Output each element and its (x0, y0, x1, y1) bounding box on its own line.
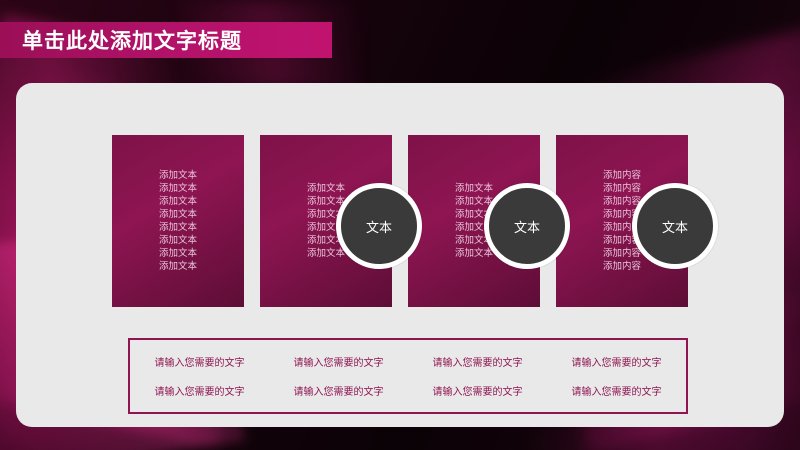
strip-line: 添加文本 (159, 247, 197, 260)
strip-line: 添加文本 (159, 208, 197, 221)
strip-line: 添加文本 (159, 169, 197, 182)
strip-line: 添加内容 (603, 169, 641, 182)
slide-canvas: 单击此处添加文字标题 添加文本 添加文本 添加文本 添加文本 添加文本 添加文本… (0, 0, 800, 450)
strip-line: 添加文本 (307, 195, 345, 208)
strip-line: 添加文本 (159, 182, 197, 195)
circle-node-label: 文本 (662, 217, 688, 236)
bottom-caption-line: 请输入您需要的文字 (572, 354, 662, 369)
circle-node-2[interactable]: 文本 (484, 183, 570, 269)
bottom-caption-box: 请输入您需要的文字 请输入您需要的文字 请输入您需要的文字 请输入您需要的文字 … (128, 338, 688, 414)
bottom-caption-line: 请输入您需要的文字 (155, 354, 245, 369)
strip-line: 添加文本 (455, 195, 493, 208)
strip-line: 添加文本 (455, 182, 493, 195)
strip-group: 添加文本 添加文本 添加文本 添加文本 添加文本 添加文本 添加文本 添加文本 … (112, 135, 688, 307)
strip-line: 添加文本 (159, 260, 197, 273)
strip-line: 添加文本 (159, 195, 197, 208)
circle-node-label: 文本 (514, 217, 540, 236)
strip-line: 添加文本 (307, 247, 345, 260)
circle-node-1[interactable]: 文本 (336, 183, 422, 269)
strip-line: 添加内容 (603, 182, 641, 195)
bottom-caption-line: 请输入您需要的文字 (294, 354, 384, 369)
page-title: 单击此处添加文字标题 (0, 25, 242, 55)
strip-line: 添加文本 (159, 234, 197, 247)
bottom-caption-line: 请输入您需要的文字 (572, 383, 662, 398)
bottom-caption-line: 请输入您需要的文字 (294, 383, 384, 398)
bottom-caption-column-2[interactable]: 请输入您需要的文字 请输入您需要的文字 (269, 340, 408, 412)
circle-node-3[interactable]: 文本 (632, 183, 718, 269)
bottom-caption-column-4[interactable]: 请输入您需要的文字 请输入您需要的文字 (547, 340, 686, 412)
title-banner: 单击此处添加文字标题 (0, 22, 332, 58)
strip-line: 添加文本 (455, 247, 493, 260)
bottom-caption-line: 请输入您需要的文字 (433, 354, 523, 369)
circle-node-label: 文本 (366, 217, 392, 236)
bottom-caption-line: 请输入您需要的文字 (155, 383, 245, 398)
strip-line: 添加内容 (603, 260, 641, 273)
bottom-caption-column-1[interactable]: 请输入您需要的文字 请输入您需要的文字 (130, 340, 269, 412)
strip-column-1[interactable]: 添加文本 添加文本 添加文本 添加文本 添加文本 添加文本 添加文本 添加文本 (112, 135, 244, 307)
strip-line: 添加文本 (307, 182, 345, 195)
bottom-caption-line: 请输入您需要的文字 (433, 383, 523, 398)
bottom-caption-column-3[interactable]: 请输入您需要的文字 请输入您需要的文字 (408, 340, 547, 412)
strip-line: 添加文本 (159, 221, 197, 234)
strip-line: 添加内容 (603, 195, 641, 208)
strip-line: 添加内容 (603, 247, 641, 260)
